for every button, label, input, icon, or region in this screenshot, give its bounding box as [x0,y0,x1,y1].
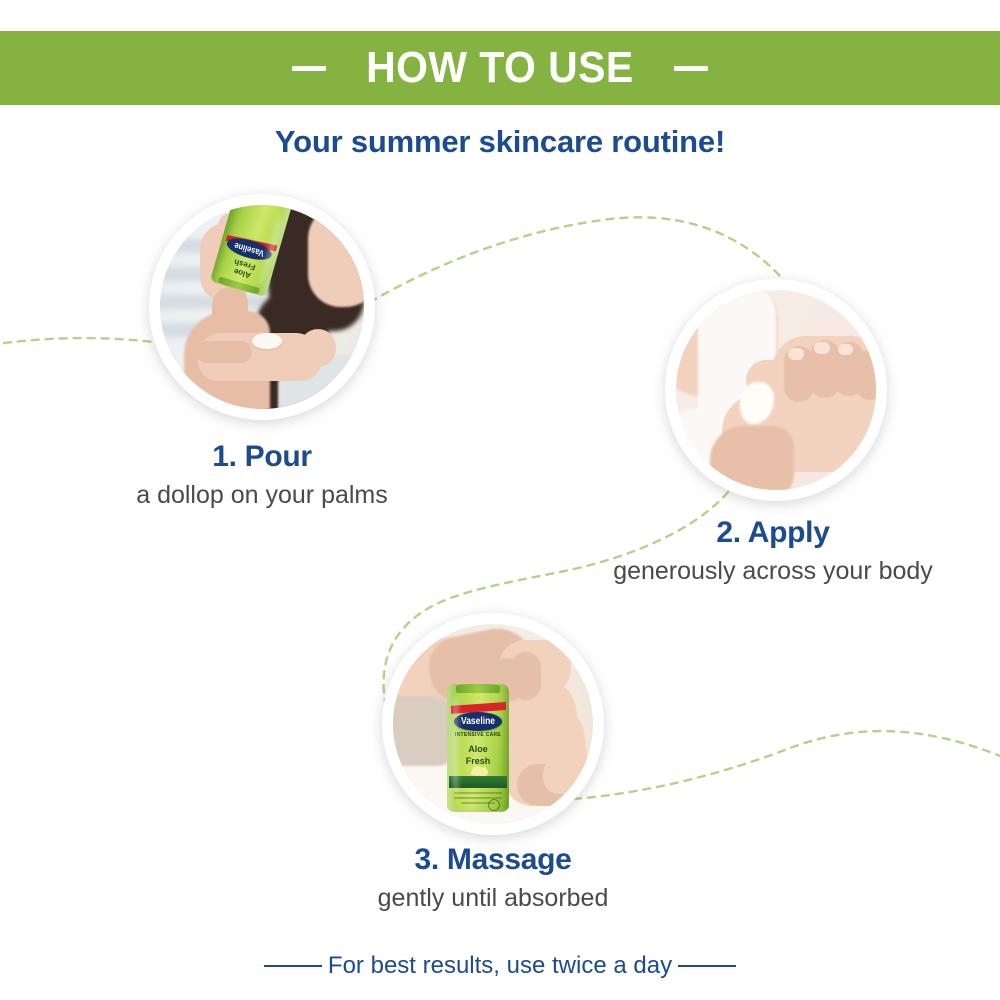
step-3-title: 3. Massage [343,843,643,876]
infographic-canvas: HOW TO USE Your summer skincare routine! [0,0,1000,1000]
step-2-subtitle: generously across your body [588,556,958,587]
step-2-title: 2. Apply [588,516,958,549]
footer-right-rule-icon [678,965,736,967]
header-title: HOW TO USE [366,46,634,90]
header-banner: HOW TO USE [0,31,1000,105]
step-2-caption: 2. Apply generously across your body [588,516,958,587]
step-1-subtitle: a dollop on your palms [112,480,412,511]
step-1-title: 1. Pour [112,440,412,473]
step-2-photo [676,290,876,490]
bottle-brand-label-3: Vaseline [461,717,495,727]
step-2-image-circle [665,279,887,501]
footer-left-rule-icon [264,965,322,967]
header-right-dash-icon [674,66,708,71]
footer-text: For best results, use twice a day [322,952,678,980]
connector-segment-4 [560,731,1000,800]
step-3-caption: 3. Massage gently until absorbed [343,843,643,914]
bottle-brand-label-1: Vaseline [233,241,265,258]
footer: For best results, use twice a day [0,952,1000,980]
step-1-caption: 1. Pour a dollop on your palms [112,440,412,511]
step-3-subtitle: gently until absorbed [343,883,643,914]
product-bottle-step-3: Vaseline INTENSIVE CARE Aloe Fresh [447,684,509,812]
step-1-photo: Vaseline Aloe Fresh [160,205,364,409]
step-1-image-circle: Vaseline Aloe Fresh [149,194,375,420]
step-3-photo: Vaseline INTENSIVE CARE Aloe Fresh [393,624,593,824]
step-3-image-circle: Vaseline INTENSIVE CARE Aloe Fresh [382,613,604,835]
header-left-dash-icon [292,66,326,71]
page-subtitle: Your summer skincare routine! [0,124,1000,160]
